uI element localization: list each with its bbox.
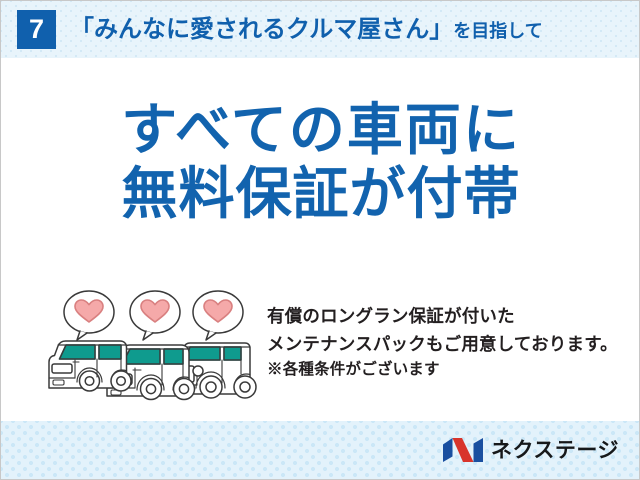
body-copy-line-1: 有償のロングラン保証が付いた <box>267 303 640 331</box>
brand-logo: ネクステージ <box>442 437 619 463</box>
cars-svg <box>45 286 263 404</box>
header-title: 「みんなに愛されるクルマ屋さん」 を目指して <box>70 18 543 42</box>
promo-banner: 7 「みんなに愛されるクルマ屋さん」 を目指して すべての車両に 無料保証が付帯 <box>0 0 640 480</box>
body-copy: 有償のロングラン保証が付いた メンテナンスパックもご用意しております。 ※各種条… <box>267 303 640 383</box>
heart-bubble-2 <box>130 291 180 340</box>
section-number-badge: 7 <box>17 10 56 49</box>
nextage-n-logo-icon <box>442 437 484 463</box>
three-cars-illustration <box>45 286 263 404</box>
headline-line-2: 無料保証が付帯 <box>1 162 640 226</box>
main-content: すべての車両に 無料保証が付帯 <box>1 58 640 421</box>
page-title: すべての車両に 無料保証が付帯 <box>1 98 640 226</box>
body-copy-note: ※各種条件がございます <box>267 358 640 383</box>
heart-bubble-1 <box>64 291 114 340</box>
content-row: 有償のロングラン保証が付いた メンテナンスパックもご用意しております。 ※各種条… <box>1 286 640 411</box>
car-kei-van <box>49 341 131 391</box>
heart-bubble-3 <box>193 291 243 340</box>
footer-band: ネクステージ <box>1 421 640 479</box>
header-band: 7 「みんなに愛されるクルマ屋さん」 を目指して <box>1 1 640 58</box>
headline-line-1: すべての車両に <box>1 98 640 162</box>
brand-logo-text: ネクステージ <box>491 440 619 461</box>
body-copy-line-2: メンテナンスパックもご用意しております。 <box>267 331 640 359</box>
header-title-tail: を目指して <box>453 22 542 40</box>
header-title-quoted: 「みんなに愛されるクルマ屋さん」 <box>70 18 453 42</box>
